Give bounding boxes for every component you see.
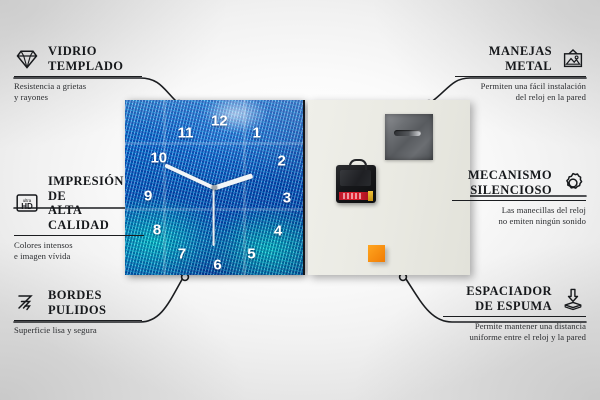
clock-numeral: 12	[211, 114, 228, 129]
callout-title: ESPACIADOR DE ESPUMA	[466, 284, 552, 313]
callout-title-line2: METAL	[489, 59, 552, 74]
callout-header: BORDES PULIDOS	[14, 288, 142, 317]
callout-header: MANEJAS METAL	[455, 44, 586, 73]
mechanism-hanging-loop	[349, 159, 367, 170]
callout-title-line1: BORDES	[48, 288, 106, 303]
callout-sub-line2: no emiten ningún sonido	[452, 216, 586, 227]
callout-vidrio-templado: VIDRIO TEMPLADO Resistencia a grietas y …	[14, 44, 142, 104]
callout-title: BORDES PULIDOS	[48, 288, 106, 317]
callout-impresion-alta-calidad: ultra HD IMPRESIÓN DE ALTA CALIDAD Color…	[14, 174, 144, 263]
ultra-hd-icon: ultra HD	[14, 190, 40, 216]
callout-divider	[14, 76, 142, 77]
callout-title-line1: VIDRIO	[48, 44, 123, 59]
svg-text:HD: HD	[21, 202, 33, 211]
clock-numeral: 9	[144, 189, 152, 204]
callout-espaciador-de-espuma: ESPACIADOR DE ESPUMA Permite mantener un…	[443, 284, 586, 344]
callout-title: MANEJAS METAL	[489, 44, 552, 73]
callout-sub-line2: del reloj en la pared	[455, 92, 586, 103]
callout-divider	[455, 76, 586, 77]
callout-sub-line1: Superficie lisa y segura	[14, 325, 142, 336]
callout-header: MECANISMO SILENCIOSO	[452, 168, 586, 197]
polished-edges-icon	[14, 290, 40, 316]
callout-title-line2: TEMPLADO	[48, 59, 123, 74]
gear-icon	[560, 170, 586, 196]
callout-subtitle: Permite mantener una distancia uniforme …	[443, 321, 586, 344]
printed-glass-clock-face: 12 1 2 3 4 5 6 7 8 9 10 11	[125, 100, 303, 275]
clock-center-pin	[212, 185, 217, 190]
callout-title: VIDRIO TEMPLADO	[48, 44, 123, 73]
product-photo: 12 1 2 3 4 5 6 7 8 9 10 11	[125, 100, 470, 275]
clock-numeral: 4	[274, 224, 282, 239]
callout-divider	[443, 316, 586, 317]
callout-sub-line1: Resistencia a grietas	[14, 81, 142, 92]
callout-title-line2: ALTA CALIDAD	[48, 203, 144, 232]
callout-title-line1: IMPRESIÓN DE	[48, 174, 144, 203]
callout-manejas-metal: MANEJAS METAL Permiten una fácil instala…	[455, 44, 586, 104]
callout-sub-line2: uniforme entre el reloj y la pared	[443, 332, 586, 343]
callout-title-line1: ESPACIADOR	[466, 284, 552, 299]
callout-subtitle: Colores intensos e imagen vívida	[14, 240, 144, 263]
callout-sub-line2: e imagen vívida	[14, 251, 144, 262]
clock-numeral: 6	[213, 257, 221, 272]
infographic-canvas: 12 1 2 3 4 5 6 7 8 9 10 11	[0, 0, 600, 400]
callout-header: VIDRIO TEMPLADO	[14, 44, 142, 73]
clock-numeral: 1	[253, 126, 261, 141]
callout-divider	[452, 200, 586, 201]
foam-spacer-arrow-icon	[560, 286, 586, 312]
callout-title-line2: PULIDOS	[48, 303, 106, 318]
clock-numeral: 8	[153, 222, 161, 237]
callout-sub-line1: Las manecillas del reloj	[452, 205, 586, 216]
callout-sub-line1: Permiten una fácil instalación	[455, 81, 586, 92]
clock-numeral: 10	[150, 150, 167, 165]
callout-header: ESPACIADOR DE ESPUMA	[443, 284, 586, 313]
second-hand	[213, 188, 215, 246]
callout-subtitle: Resistencia a grietas y rayones	[14, 81, 142, 104]
callout-mecanismo-silencioso: MECANISMO SILENCIOSO Las manecillas del …	[452, 168, 586, 228]
clock-numeral: 7	[178, 247, 186, 262]
callout-title-line2: DE ESPUMA	[466, 299, 552, 314]
callout-title: IMPRESIÓN DE ALTA CALIDAD	[48, 174, 144, 232]
callout-subtitle: Permiten una fácil instalación del reloj…	[455, 81, 586, 104]
callout-bordes-pulidos: BORDES PULIDOS Superficie lisa y segura	[14, 288, 142, 336]
clock-back-panel	[308, 100, 470, 275]
clock-numeral: 11	[178, 126, 194, 141]
battery-contact	[368, 191, 373, 201]
foam-spacer-pad	[368, 245, 385, 262]
callout-sub-line1: Colores intensos	[14, 240, 144, 251]
callout-divider	[14, 320, 142, 321]
callout-title: MECANISMO SILENCIOSO	[468, 168, 552, 197]
callout-header: ultra HD IMPRESIÓN DE ALTA CALIDAD	[14, 174, 144, 232]
silent-quartz-mechanism	[336, 165, 376, 203]
callout-sub-line2: y rayones	[14, 92, 142, 103]
callout-subtitle: Las manecillas del reloj no emiten ningú…	[452, 205, 586, 228]
clock-numeral: 3	[283, 191, 291, 206]
clock-numeral: 2	[277, 154, 285, 169]
metal-hanger-plate	[385, 114, 433, 160]
battery-label	[339, 192, 369, 200]
diamond-icon	[14, 46, 40, 72]
callout-sub-line1: Permite mantener una distancia	[443, 321, 586, 332]
callout-title-line2: SILENCIOSO	[468, 183, 552, 198]
picture-hanger-icon	[560, 46, 586, 72]
callout-subtitle: Superficie lisa y segura	[14, 325, 142, 336]
mechanism-body-detail	[340, 170, 371, 186]
callout-title-line1: MECANISMO	[468, 168, 552, 183]
callout-divider	[14, 235, 144, 236]
hanger-slot	[394, 130, 421, 136]
clock-numeral: 5	[247, 247, 255, 262]
callout-title-line1: MANEJAS	[489, 44, 552, 59]
